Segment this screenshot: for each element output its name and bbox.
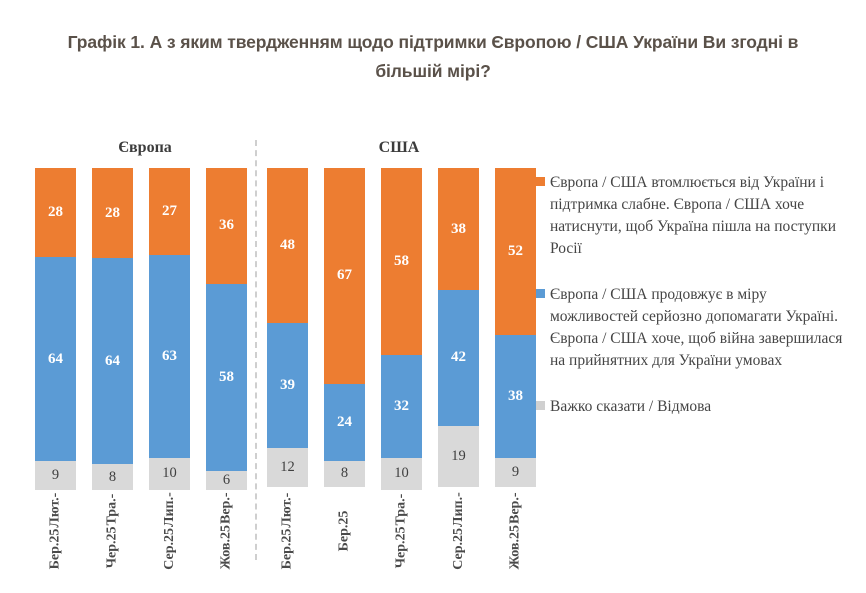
bar-segment-blue[interactable]: 42 — [438, 290, 479, 425]
x-tick-label-4: Вер.-Жов.25 — [206, 497, 247, 567]
x-tick-label-line: Тра.- — [394, 494, 410, 526]
bar-column-5[interactable]: 483912 — [267, 168, 308, 490]
x-tick-label-line: Лип.- — [451, 492, 467, 527]
bar-value-label: 6 — [223, 472, 230, 489]
bar-column-8[interactable]: 384219 — [438, 168, 479, 490]
bar-segment-gray[interactable]: 6 — [206, 471, 247, 490]
bar-segment-gray[interactable]: 9 — [495, 458, 536, 487]
x-tick-label-line: Чер.25 — [105, 526, 121, 568]
legend-label: Європа / США втомлюється від України і п… — [550, 172, 856, 260]
bar-segment-blue[interactable]: 63 — [149, 255, 190, 458]
bar-value-label: 58 — [219, 369, 234, 386]
bar-value-label: 9 — [512, 464, 519, 481]
chart-legend: Європа / США втомлюється від України і п… — [536, 172, 856, 442]
bar-value-label: 52 — [508, 243, 523, 260]
bar-value-label: 10 — [394, 465, 409, 482]
legend-label: Важко сказати / Відмова — [550, 396, 711, 418]
bar-segment-gray[interactable]: 8 — [92, 464, 133, 490]
bar-segment-orange[interactable]: 38 — [438, 168, 479, 290]
bar-segment-gray[interactable]: 8 — [324, 461, 365, 487]
bar-value-label: 64 — [105, 353, 120, 370]
x-tick-label-3: Лип.-Сер.25 — [149, 497, 190, 567]
bar-segment-orange[interactable]: 67 — [324, 168, 365, 384]
bar-value-label: 32 — [394, 398, 409, 415]
bar-value-label: 28 — [48, 204, 63, 221]
bar-column-3[interactable]: 276310 — [149, 168, 190, 490]
bar-value-label: 67 — [337, 267, 352, 284]
bar-column-4[interactable]: 36586 — [206, 168, 247, 490]
legend-swatch-blue — [536, 289, 545, 298]
x-tick-label-line: Сер.25 — [162, 528, 178, 570]
x-tick-label-1: Лют.-Бер.25 — [35, 497, 76, 567]
x-tick-label-8: Лип.-Сер.25 — [438, 497, 479, 567]
x-tick-label-line: Бер.25 — [280, 529, 296, 570]
bar-column-2[interactable]: 28648 — [92, 168, 133, 490]
x-tick-label-7: Тра.-Чер.25 — [381, 497, 422, 567]
x-tick-label-line: Сер.25 — [451, 528, 467, 570]
bar-value-label: 28 — [105, 205, 120, 222]
x-tick-label-line: Бер.25 — [336, 511, 352, 552]
bar-segment-gray[interactable]: 19 — [438, 426, 479, 487]
legend-item-hard_to_say[interactable]: Важко сказати / Відмова — [536, 396, 856, 418]
bar-value-label: 64 — [48, 351, 63, 368]
group-header-europe: Європа — [35, 139, 255, 157]
bar-value-label: 48 — [280, 237, 295, 254]
bar-value-label: 24 — [337, 414, 352, 431]
bar-segment-orange[interactable]: 48 — [267, 168, 308, 323]
bar-segment-orange[interactable]: 52 — [495, 168, 536, 335]
bar-value-label: 38 — [508, 388, 523, 405]
group-divider-line — [255, 140, 257, 560]
x-tick-label-line: Жов.25 — [508, 525, 524, 570]
x-tick-label-5: Лют.-Бер.25 — [267, 497, 308, 567]
bar-segment-gray[interactable]: 10 — [149, 458, 190, 490]
bar-value-label: 63 — [162, 348, 177, 365]
x-tick-label-line: Лют.- — [280, 493, 296, 528]
bar-segment-blue[interactable]: 24 — [324, 384, 365, 461]
legend-swatch-gray — [536, 401, 545, 410]
bar-value-label: 58 — [394, 253, 409, 270]
bar-value-label: 10 — [162, 465, 177, 482]
x-tick-label-9: Вер.-Жов.25 — [495, 497, 536, 567]
bar-segment-blue[interactable]: 32 — [381, 355, 422, 458]
legend-item-helping[interactable]: Європа / США продовжує в міру можливосте… — [536, 284, 856, 372]
bar-value-label: 12 — [280, 459, 295, 476]
x-tick-label-line: Лип.- — [162, 492, 178, 527]
bar-column-1[interactable]: 28649 — [35, 168, 76, 490]
x-tick-label-2: Тра.-Чер.25 — [92, 497, 133, 567]
bar-column-9[interactable]: 52389 — [495, 168, 536, 490]
bar-segment-blue[interactable]: 39 — [267, 323, 308, 449]
x-tick-label-line: Вер.- — [508, 492, 524, 524]
bar-segment-gray[interactable]: 10 — [381, 458, 422, 490]
bar-segment-gray[interactable]: 12 — [267, 448, 308, 487]
legend-swatch-orange — [536, 177, 545, 186]
group-header-usa: США — [258, 139, 540, 157]
x-tick-label-6: Бер.25 — [324, 497, 365, 567]
bar-segment-orange[interactable]: 36 — [206, 168, 247, 284]
bar-segment-blue[interactable]: 38 — [495, 335, 536, 457]
x-tick-label-line: Чер.25 — [394, 526, 410, 568]
x-tick-label-line: Бер.25 — [48, 529, 64, 570]
bar-segment-blue[interactable]: 58 — [206, 284, 247, 471]
bar-value-label: 38 — [451, 221, 466, 238]
bar-segment-orange[interactable]: 28 — [92, 168, 133, 258]
bar-column-7[interactable]: 583210 — [381, 168, 422, 490]
bar-segment-orange[interactable]: 58 — [381, 168, 422, 355]
x-tick-label-line: Лют.- — [48, 493, 64, 528]
bar-segment-orange[interactable]: 27 — [149, 168, 190, 255]
bar-value-label: 42 — [451, 349, 466, 366]
bar-segment-orange[interactable]: 28 — [35, 168, 76, 257]
bar-value-label: 27 — [162, 203, 177, 220]
bar-segment-gray[interactable]: 9 — [35, 461, 76, 490]
x-tick-label-line: Тра.- — [105, 494, 121, 526]
bar-value-label: 8 — [109, 469, 116, 486]
bar-segment-blue[interactable]: 64 — [35, 257, 76, 461]
legend-label: Європа / США продовжує в міру можливосте… — [550, 284, 856, 372]
legend-item-tired[interactable]: Європа / США втомлюється від України і п… — [536, 172, 856, 260]
bar-value-label: 39 — [280, 377, 295, 394]
bar-value-label: 19 — [451, 448, 466, 465]
bar-segment-blue[interactable]: 64 — [92, 258, 133, 464]
x-tick-label-line: Вер.- — [219, 492, 235, 524]
bar-column-6[interactable]: 67248 — [324, 168, 365, 490]
chart-plot-area: Європа США 28649286482763103658648391267… — [0, 0, 560, 593]
bar-value-label: 9 — [52, 467, 59, 484]
bar-value-label: 8 — [341, 465, 348, 482]
bar-value-label: 36 — [219, 217, 234, 234]
x-tick-label-line: Жов.25 — [219, 525, 235, 570]
